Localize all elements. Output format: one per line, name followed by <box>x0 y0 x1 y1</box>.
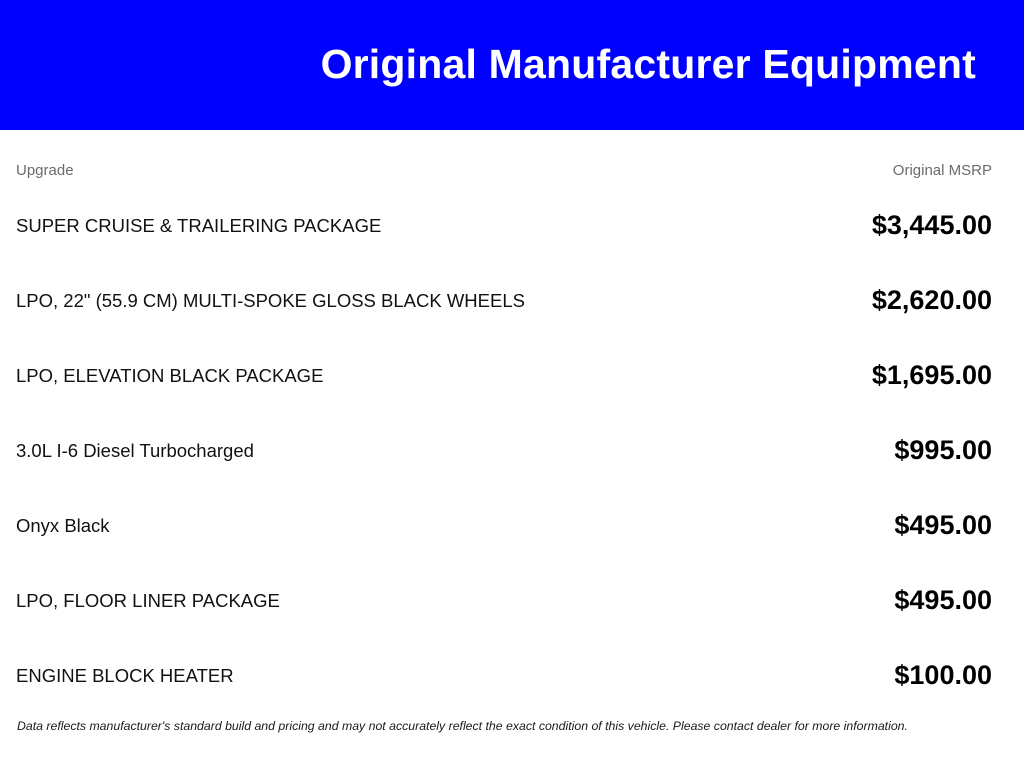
upgrade-price: $100.00 <box>894 660 992 691</box>
upgrade-price: $3,445.00 <box>872 210 992 241</box>
table-row: LPO, 22" (55.9 CM) MULTI-SPOKE GLOSS BLA… <box>16 263 992 338</box>
upgrade-name: ENGINE BLOCK HEATER <box>16 665 234 687</box>
upgrade-name: 3.0L I-6 Diesel Turbocharged <box>16 440 254 462</box>
upgrade-price: $1,695.00 <box>872 360 992 391</box>
table-header-row: Upgrade Original MSRP <box>16 130 992 188</box>
table-row: 3.0L I-6 Diesel Turbocharged $995.00 <box>16 413 992 488</box>
table-row: LPO, ELEVATION BLACK PACKAGE $1,695.00 <box>16 338 992 413</box>
page-title: Original Manufacturer Equipment <box>321 42 976 87</box>
upgrade-price: $2,620.00 <box>872 285 992 316</box>
footer: Data reflects manufacturer's standard bu… <box>0 713 1024 773</box>
equipment-page: Original Manufacturer Equipment Upgrade … <box>0 0 1024 768</box>
table-row: ENGINE BLOCK HEATER $100.00 <box>16 638 992 713</box>
upgrade-price: $995.00 <box>894 435 992 466</box>
page-header-banner: Original Manufacturer Equipment <box>0 0 1024 130</box>
upgrade-name: LPO, 22" (55.9 CM) MULTI-SPOKE GLOSS BLA… <box>16 290 525 312</box>
upgrade-name: SUPER CRUISE & TRAILERING PACKAGE <box>16 215 381 237</box>
table-row: Onyx Black $495.00 <box>16 488 992 563</box>
upgrade-name: Onyx Black <box>16 515 110 537</box>
table-body: SUPER CRUISE & TRAILERING PACKAGE $3,445… <box>16 188 992 713</box>
column-header-original-msrp: Original MSRP <box>893 162 992 179</box>
upgrade-price: $495.00 <box>894 510 992 541</box>
upgrade-name: LPO, ELEVATION BLACK PACKAGE <box>16 365 323 387</box>
table-row: SUPER CRUISE & TRAILERING PACKAGE $3,445… <box>16 188 992 263</box>
table-row: LPO, FLOOR LINER PACKAGE $495.00 <box>16 563 992 638</box>
equipment-table: Upgrade Original MSRP SUPER CRUISE & TRA… <box>0 130 1024 713</box>
column-header-upgrade: Upgrade <box>16 162 74 179</box>
disclaimer-text: Data reflects manufacturer's standard bu… <box>17 719 1008 735</box>
upgrade-price: $495.00 <box>894 585 992 616</box>
upgrade-name: LPO, FLOOR LINER PACKAGE <box>16 590 280 612</box>
